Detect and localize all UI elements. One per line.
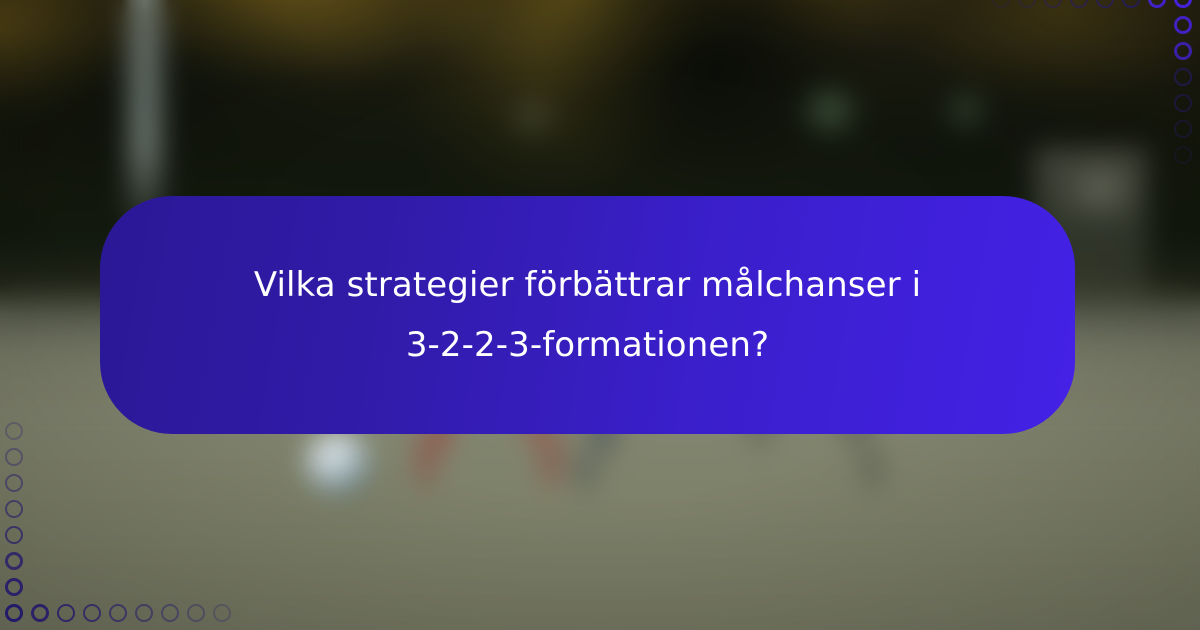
og-card-canvas: Vilka strategier förbättrar målchanser i… [0, 0, 1200, 630]
question-card: Vilka strategier förbättrar målchanser i… [100, 196, 1075, 434]
question-text: Vilka strategier förbättrar målchanser i… [243, 255, 933, 375]
